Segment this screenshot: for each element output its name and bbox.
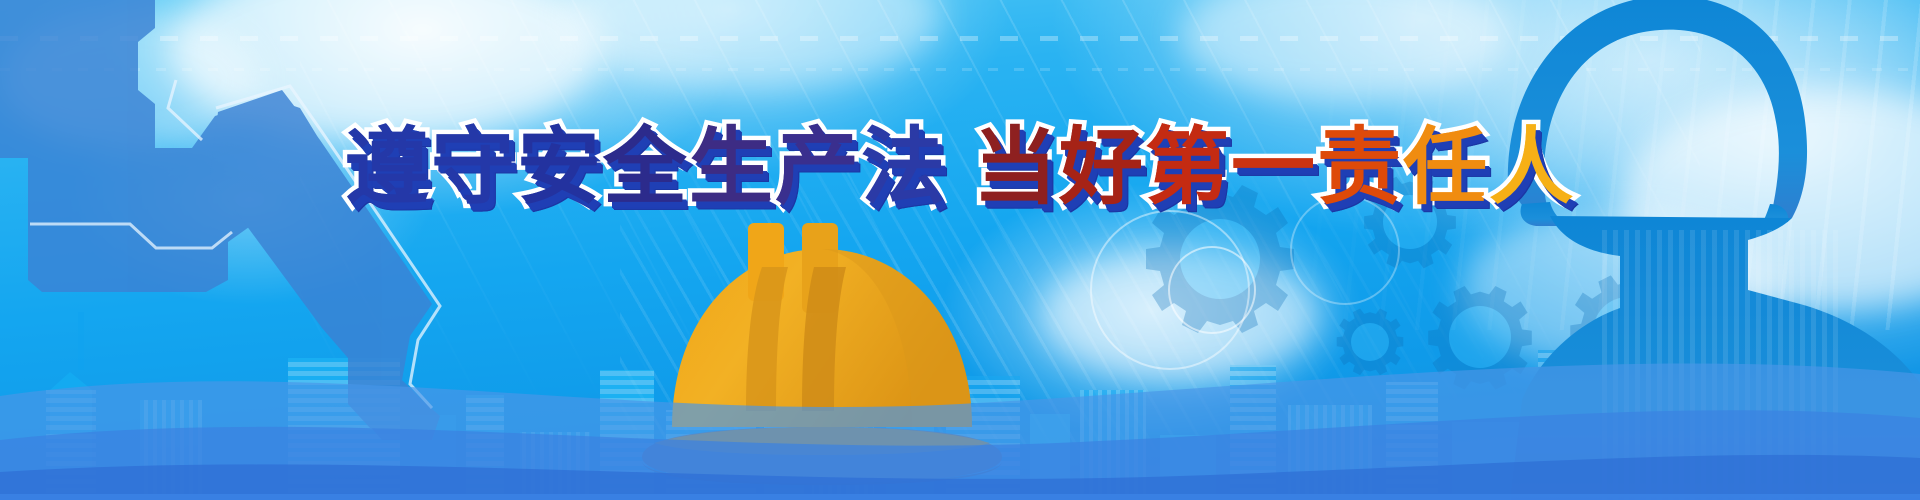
title-character: 产 [775,100,861,221]
title-character: 一 [1231,100,1317,221]
cloud-shape [0,10,260,150]
title-character: 安 [517,100,603,221]
bottom-strip [0,494,1920,500]
title-text: 遵守安全生产法当好第一责任人 [345,100,1575,221]
safety-banner: 遵守安全生产法当好第一责任人 [0,0,1920,500]
title-character: 法 [861,100,947,221]
cloud-shape [560,0,940,90]
title-character: 全 [603,100,689,221]
cloud-shape [1040,250,1320,380]
cloud-shape [1460,210,1780,370]
cloud-shape [1180,0,1510,100]
title-character: 第 [1145,100,1231,221]
title-character: 生 [689,100,775,221]
title-character: 当 [973,100,1059,221]
title-character: 好 [1059,100,1145,221]
title-character: 人 [1489,100,1575,221]
title-character: 任 [1403,100,1489,221]
title-character: 责 [1317,100,1403,221]
yellow-hard-hat-icon [612,205,1032,500]
